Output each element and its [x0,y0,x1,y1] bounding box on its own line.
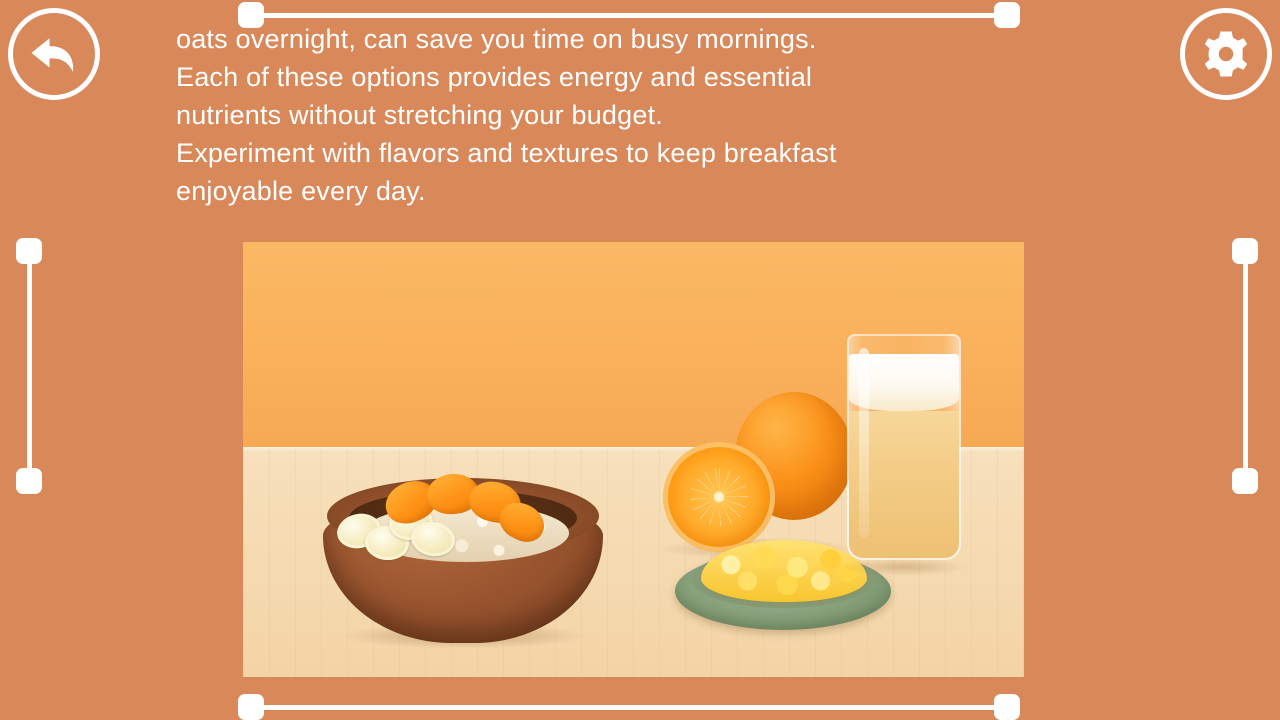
article-body-text: oats overnight, can save you time on bus… [176,20,1076,210]
slider-knob-end[interactable] [994,2,1020,28]
slider-knob-start[interactable] [238,2,264,28]
slider-track [251,705,1007,710]
left-resize-handle[interactable] [16,238,42,494]
glass-shadow [841,558,967,576]
slider-track [27,251,32,481]
slider-knob-start[interactable] [238,694,264,720]
slider-knob-start[interactable] [1232,238,1258,264]
glass-vessel [847,334,961,560]
slider-knob-end[interactable] [1232,468,1258,494]
slider-track [251,13,1007,18]
orange-fruit [663,392,853,552]
slider-knob-start[interactable] [16,238,42,264]
juice-glass [841,334,967,570]
back-button[interactable] [8,8,100,100]
settings-button[interactable] [1180,8,1272,100]
slider-knob-end[interactable] [994,694,1020,720]
gear-icon [1199,27,1253,81]
bottom-resize-handle[interactable] [238,694,1020,720]
breakfast-photo [243,242,1024,677]
glass-highlight [859,348,869,538]
oatmeal-bowl [323,470,603,645]
undo-arrow-icon [27,27,81,81]
halved-orange [663,442,775,552]
slider-track [1243,251,1248,481]
app-canvas: oats overnight, can save you time on bus… [0,0,1280,720]
right-resize-handle[interactable] [1232,238,1258,494]
slider-knob-end[interactable] [16,468,42,494]
